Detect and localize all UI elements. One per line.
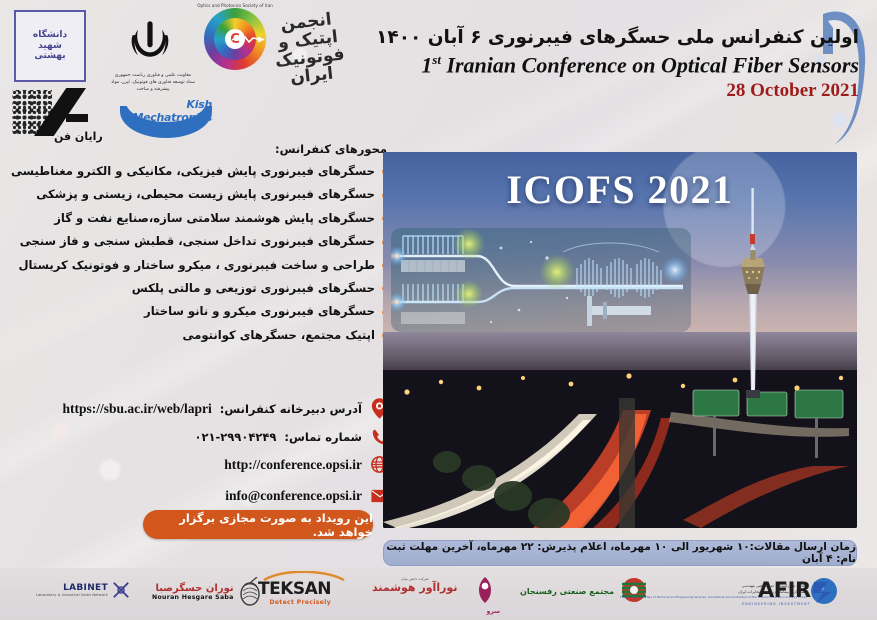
topic-label: حسگرهای فیبرنوری توزیعی و مالتی پلکس [132,282,375,296]
contact-row-email: info@conference.opsi.ir [21,485,389,506]
contact-website-url[interactable]: http://conference.opsi.ir [224,457,362,473]
sponsor-logo-strip: LABINET Laboratory & Industrial Sales Ne… [0,568,877,620]
nouran-fa-label: نوران حسگرصبا [152,583,234,594]
teksan-label: TEKSAN [258,579,331,599]
topic-label: اپتیک مجتمع، حسگرهای کوانتومی [182,329,375,343]
topic-item: حسگرهای فیبرنوری توزیعی و مالتی پلکس [22,282,387,296]
kish-mechatronics-logo: Kish Mechatronics [120,92,212,140]
rayan-bar-mark [66,114,88,122]
conference-topics-list: محورهای کنفرانس: حسگرهای فیبرنوری پایش ف… [22,142,387,352]
rafsanjan-fa-label: مجتمع صنعتی رفسنجان [520,587,614,596]
opsi-persian-wordmark: انجمن اپتیک و فوتونیک ایران [272,14,346,66]
title-english: 1st Iranian Conference on Optical Fiber … [404,52,859,78]
rayan-fan-logo: رایان فن [10,88,106,144]
contact-row-website: http://conference.opsi.ir [21,454,389,475]
iran-presidency-emblem-caption: معاونت علمی و فناوری ریاست جمهوری ستاد ت… [103,72,203,93]
labinet-label: LABINET [36,583,108,593]
topic-item: اپتیک مجتمع، حسگرهای کوانتومی [22,329,387,343]
topic-label: حسگرهای فیبرنوری پایش فیزیکی، مکانیکی و … [11,165,375,179]
topic-label: طراحی و ساخت فیبرنوری ، میکرو ساختار و ف… [18,259,375,273]
topic-item: حسگرهای فیبرنوری پایش فیزیکی، مکانیکی و … [22,165,387,179]
iran-presidency-emblem-icon [120,14,180,70]
highway-light-trails [383,370,857,528]
topic-label: حسگرهای فیبرنوری پایش زیست محیطی، زیستی … [36,188,375,202]
sponsor-nouran-hesgare-saba: نوران حسگرصبا Nouran Hesgare Saba [152,577,263,607]
contact-address-url[interactable]: https://sbu.ac.ir/web/lapri [63,401,212,417]
opsi-logo-caption: Optics and Photonics Society of Iran [196,2,274,80]
topic-label: حسگرهای فیبرنوری تداخل سنجی، قطبش سنجی و… [20,235,375,249]
title-english-rest: Iranian Conference on Optical Fiber Sens… [441,52,859,77]
contact-phone-value: ۰۲۱-۲۹۹۰۴۲۴۹ [194,430,276,444]
safir-tagline: ENGINEERING INVESTMENT [742,602,811,606]
sarv-fa-label: سرو [470,608,500,615]
topic-item: حسگرهای فیبرنوری میکرو و نانو ساختار [22,305,387,319]
nouran-en-label: Nouran Hesgare Saba [152,594,234,601]
title-date-english: 28 October 2021 [404,80,859,102]
poster-title-block: اولین کنفرانس ملی حسگرهای فیبرنوری ۶ آبا… [404,26,859,102]
shahid-beheshti-university-logo: دانشگاه شهید بهشتی [14,10,86,82]
safir-label: AFIR [742,578,811,602]
deadlines-bar: زمان ارسال مقالات:۱۰ شهریور الی ۱۰ مهرما… [383,540,857,566]
topics-heading: محورهای کنفرانس: [22,142,387,156]
virtual-event-notice-pill: این رویداد به صورت مجازی برگزار خواهد شد… [143,510,373,539]
contact-email[interactable]: info@conference.opsi.ir [225,488,362,504]
sponsor-teksan: TEKSAN Detect Precisely [258,579,331,606]
sbu-logo-text: دانشگاه شهید بهشتی [21,17,79,75]
topic-item: حسگرهای فیبرنوری تداخل سنجی، قطبش سنجی و… [22,235,387,249]
kish-mechatronics-label: Kish Mechatronics [126,98,212,124]
photonic-waveguide-illustration [391,224,691,364]
teksan-tagline: Detect Precisely [258,599,331,606]
topic-label: حسگرهای پایش هوشمند سلامتی سازه،صنایع نف… [54,212,375,226]
labinet-sub: Laboratory & Industrial Sales Network [36,593,108,597]
topic-label: حسگرهای فیبرنوری میکرو و نانو ساختار [144,305,375,319]
contact-address-label: آدرس دبیرخانه کنفرانس: [220,402,362,416]
sponsor-sarv: سرو [470,576,500,615]
milad-tower-icon [735,188,771,398]
topic-item: حسگرهای فیبرنوری پایش زیست محیطی، زیستی … [22,188,387,202]
contact-row-address: آدرس دبیرخانه کنفرانس: https://sbu.ac.ir… [21,398,389,419]
contact-block: آدرس دبیرخانه کنفرانس: https://sbu.ac.ir… [21,398,389,513]
hero-photo: ICOFS 2021 [383,152,857,528]
title-persian: اولین کنفرانس ملی حسگرهای فیبرنوری ۶ آبا… [404,26,859,51]
title-ordinal-number: 1 [421,52,432,77]
sponsor-nooravar-hooshmand: شرکت دانش بنیان نوراآور هوشمند [372,577,457,594]
topic-item: حسگرهای پایش هوشمند سلامتی سازه،صنایع نف… [22,212,387,226]
title-ordinal-suffix: st [432,52,441,67]
conference-poster: دانشگاه شهید بهشتی معاونت علمی و فناوری … [0,0,877,620]
icofs-title: ICOFS 2021 [383,166,857,213]
contact-row-phone: شماره تماس: ۰۲۱-۲۹۹۰۴۲۴۹ [21,426,389,447]
sponsor-safir: AFIR ENGINEERING INVESTMENT [742,578,834,606]
sponsor-labinet: LABINET Laboratory & Industrial Sales Ne… [36,581,130,599]
header-logo-row: دانشگاه شهید بهشتی معاونت علمی و فناوری … [0,0,430,150]
nooravar-fa-label: نوراآور هوشمند [372,581,457,594]
contact-phone-label: شماره تماس: [284,430,362,444]
topic-item: طراحی و ساخت فیبرنوری ، میکرو ساختار و ف… [22,259,387,273]
